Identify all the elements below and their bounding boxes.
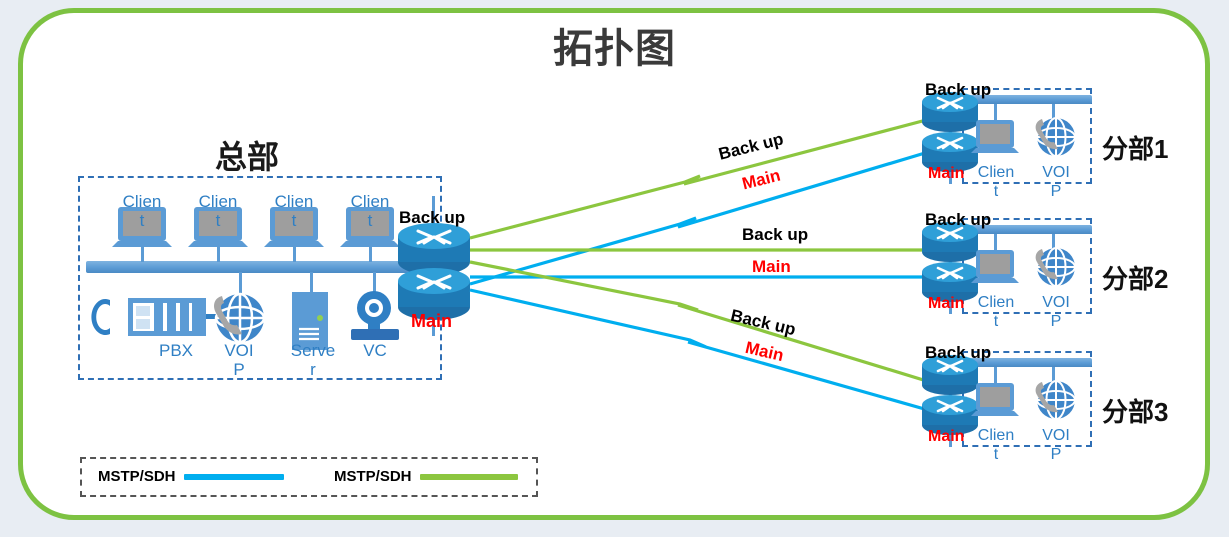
branch2-voip-stub <box>1052 234 1055 252</box>
branch3-client-label: Client <box>968 426 1024 464</box>
legend-item-0-label: MSTP/SDH <box>98 468 176 485</box>
pbx-label: PBX <box>140 341 212 360</box>
branch2-voip-label: VOIP <box>1030 293 1082 331</box>
branch3-backup-label: Back up <box>925 343 991 363</box>
legend-item-0-swatch <box>184 474 284 480</box>
branch1-client-label: Client <box>968 163 1024 201</box>
branch2-client-label: Client <box>968 293 1024 331</box>
branch1-voip-label: VOIP <box>1030 163 1082 201</box>
client-label: Client <box>188 192 248 230</box>
hq-main-router-label: Main <box>411 311 452 332</box>
server-label: Server <box>278 341 348 379</box>
client-stub <box>293 246 296 262</box>
branch2-label: 分部2 <box>1102 259 1168 296</box>
branch1-label: 分部1 <box>1102 129 1168 166</box>
vc-stub <box>373 272 376 298</box>
client-stub <box>369 246 372 262</box>
branch3-voip-stub <box>1052 367 1055 385</box>
legend-item-1-label: MSTP/SDH <box>334 468 412 485</box>
server-stub <box>310 272 313 296</box>
branch3-voip-label: VOIP <box>1030 426 1082 464</box>
client-stub <box>217 246 220 262</box>
branch2-backup-label: Back up <box>925 210 991 230</box>
branch1-voip-stub <box>1052 104 1055 122</box>
client-stub <box>141 246 144 262</box>
link-backup-branch2-label: Back up <box>742 225 808 245</box>
branch2-client-stub <box>994 234 997 252</box>
hq-backup-router-label: Back up <box>399 208 465 228</box>
voip-stub <box>239 272 242 308</box>
topology-diagram: 拓扑图 总部 <box>0 0 1229 537</box>
vc-label: VC <box>347 341 403 360</box>
client-label: Client <box>264 192 324 230</box>
branch1-main-label: Main <box>928 165 964 183</box>
page-title: 拓扑图 <box>0 16 1229 74</box>
branch1-client-stub <box>994 104 997 122</box>
branch3-client-stub <box>994 367 997 385</box>
link-main-branch2-label: Main <box>752 257 791 277</box>
headquarters-label: 总部 <box>215 132 279 178</box>
legend-item-1-swatch <box>420 474 518 480</box>
branch3-main-label: Main <box>928 428 964 446</box>
branch1-backup-label: Back up <box>925 80 991 100</box>
voip-label: VOIP <box>206 341 272 379</box>
client-label: Client <box>112 192 172 230</box>
client-label: Client <box>340 192 400 230</box>
headquarters-bus <box>86 261 434 273</box>
branch3-label: 分部3 <box>1102 392 1168 429</box>
branch2-main-label: Main <box>928 295 964 313</box>
